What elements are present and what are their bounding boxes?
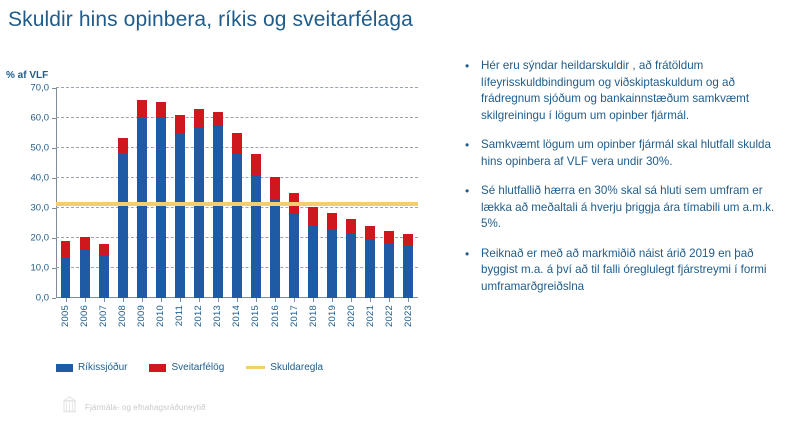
y-tick-label: 30,0 xyxy=(31,203,50,214)
x-tick-label: 2022 xyxy=(384,305,395,327)
bar-segment-sveitarfelog[interactable] xyxy=(118,138,128,153)
bar-segment-sveitarfelog[interactable] xyxy=(156,102,166,119)
x-tick-mark xyxy=(85,298,86,302)
x-axis-tick-group: 2005 xyxy=(56,298,75,360)
y-tick-label: 70,0 xyxy=(31,83,50,94)
bar-segment-sveitarfelog[interactable] xyxy=(365,226,375,240)
bar-group[interactable] xyxy=(132,88,151,298)
bar-segment-rikissjodur[interactable] xyxy=(61,258,71,299)
y-tick-label: 10,0 xyxy=(31,263,50,274)
footer: Fjármála- og efnahagsráðuneytið xyxy=(62,396,206,418)
bar-stack[interactable] xyxy=(346,88,356,298)
bar-segment-sveitarfelog[interactable] xyxy=(270,177,280,200)
x-tick-label: 2013 xyxy=(212,305,223,327)
skuldaregla-threshold-line xyxy=(56,202,418,206)
bullet-item: •Hér eru sýndar heildarskuldir , að frát… xyxy=(462,58,782,124)
plot-area: 70,060,050,040,030,020,010,00,0 xyxy=(56,88,418,298)
x-axis-tick-group: 2011 xyxy=(170,298,189,360)
x-tick-label: 2006 xyxy=(79,305,90,327)
bar-segment-rikissjodur[interactable] xyxy=(99,255,109,299)
x-axis-tick-group: 2007 xyxy=(94,298,113,360)
bar-segment-rikissjodur[interactable] xyxy=(384,243,394,299)
x-axis-labels: 2005200620072008200920102011201220132014… xyxy=(56,298,418,360)
bar-group[interactable] xyxy=(56,88,75,298)
x-tick-mark xyxy=(66,298,67,302)
x-tick-label: 2019 xyxy=(327,305,338,327)
x-tick-label: 2014 xyxy=(231,305,242,327)
x-tick-mark xyxy=(218,298,219,302)
y-tick-label: 50,0 xyxy=(31,143,50,154)
x-axis-tick-group: 2015 xyxy=(246,298,265,360)
x-tick-label: 2023 xyxy=(403,305,414,327)
x-tick-label: 2020 xyxy=(346,305,357,327)
x-axis-tick-group: 2022 xyxy=(380,298,399,360)
bar-group[interactable] xyxy=(361,88,380,298)
bar-stack[interactable] xyxy=(384,88,394,298)
x-tick-mark xyxy=(408,298,409,302)
x-tick-label: 2021 xyxy=(365,305,376,327)
x-axis-tick-group: 2020 xyxy=(342,298,361,360)
x-tick-mark xyxy=(123,298,124,302)
bullet-text: Hér eru sýndar heildarskuldir , að frátö… xyxy=(481,58,782,124)
x-tick-label: 2018 xyxy=(308,305,319,327)
bar-segment-sveitarfelog[interactable] xyxy=(213,112,223,126)
bar-stack[interactable] xyxy=(194,88,204,298)
bar-segment-rikissjodur[interactable] xyxy=(156,118,166,298)
legend-swatch xyxy=(56,364,73,372)
bar-segment-sveitarfelog[interactable] xyxy=(61,241,71,258)
bar-group[interactable] xyxy=(113,88,132,298)
bar-group[interactable] xyxy=(285,88,304,298)
legend-item[interactable]: Sveitarfélög xyxy=(149,362,224,373)
bar-stack[interactable] xyxy=(232,88,242,298)
y-tick-label: 40,0 xyxy=(31,173,50,184)
bar-segment-rikissjodur[interactable] xyxy=(213,126,223,299)
bar-segment-rikissjodur[interactable] xyxy=(80,250,90,298)
legend-item[interactable]: Ríkissjóður xyxy=(56,362,127,373)
x-axis-tick-group: 2014 xyxy=(227,298,246,360)
bullet-item: •Reiknað er með að markmiðið náist árið … xyxy=(462,246,782,296)
bar-stack[interactable] xyxy=(365,88,375,298)
x-axis-tick-group: 2013 xyxy=(208,298,227,360)
x-axis-tick-group: 2019 xyxy=(323,298,342,360)
bullet-item: •Sé hlutfallið hærra en 30% skal sá hlut… xyxy=(462,183,782,233)
bar-group[interactable] xyxy=(189,88,208,298)
bar-group[interactable] xyxy=(342,88,361,298)
x-axis-tick-group: 2017 xyxy=(285,298,304,360)
coat-of-arms-icon xyxy=(62,396,77,418)
x-tick-mark xyxy=(142,298,143,302)
bar-segment-rikissjodur[interactable] xyxy=(403,246,413,299)
x-tick-label: 2012 xyxy=(193,305,204,327)
x-tick-mark xyxy=(332,298,333,302)
bar-segment-rikissjodur[interactable] xyxy=(232,154,242,298)
x-tick-mark xyxy=(180,298,181,302)
bar-group[interactable] xyxy=(227,88,246,298)
x-tick-label: 2011 xyxy=(174,305,185,326)
x-axis-tick-group: 2006 xyxy=(75,298,94,360)
bar-segment-rikissjodur[interactable] xyxy=(270,199,280,298)
bar-segment-sveitarfelog[interactable] xyxy=(175,115,185,133)
bar-stack[interactable] xyxy=(80,88,90,298)
bar-group[interactable] xyxy=(266,88,285,298)
bar-group[interactable] xyxy=(75,88,94,298)
bar-stack[interactable] xyxy=(251,88,261,298)
legend-swatch xyxy=(246,366,265,369)
x-tick-mark xyxy=(370,298,371,302)
legend-item[interactable]: Skuldaregla xyxy=(246,362,323,373)
bars-layer xyxy=(56,88,418,298)
bar-segment-rikissjodur[interactable] xyxy=(251,175,261,298)
legend-label: Sveitarfélög xyxy=(171,362,224,373)
x-tick-mark xyxy=(104,298,105,302)
bar-group[interactable] xyxy=(304,88,323,298)
x-tick-label: 2015 xyxy=(250,305,261,327)
bar-group[interactable] xyxy=(246,88,265,298)
bar-stack[interactable] xyxy=(289,88,299,298)
bar-segment-sveitarfelog[interactable] xyxy=(251,154,261,175)
chart-container: % af VLF 70,060,050,040,030,020,010,00,0… xyxy=(0,62,452,392)
legend-swatch xyxy=(149,364,166,372)
x-axis-tick-group: 2023 xyxy=(399,298,418,360)
bar-stack[interactable] xyxy=(308,88,318,298)
legend-label: Ríkissjóður xyxy=(78,362,127,373)
bullet-marker-icon: • xyxy=(462,58,481,75)
x-axis-tick-group: 2008 xyxy=(113,298,132,360)
bar-segment-sveitarfelog[interactable] xyxy=(327,213,337,230)
bullet-marker-icon: • xyxy=(462,246,481,263)
bar-group[interactable] xyxy=(94,88,113,298)
bar-segment-rikissjodur[interactable] xyxy=(175,133,185,298)
bullet-text: Reiknað er með að markmiðið náist árið 2… xyxy=(481,246,782,296)
x-tick-mark xyxy=(351,298,352,302)
bar-group[interactable] xyxy=(170,88,189,298)
bar-group[interactable] xyxy=(399,88,418,298)
bullet-text: Samkvæmt lögum um opinber fjármál skal h… xyxy=(481,137,782,170)
bullet-panel: •Hér eru sýndar heildarskuldir , að frát… xyxy=(462,58,782,308)
x-tick-mark xyxy=(275,298,276,302)
bullet-marker-icon: • xyxy=(462,183,481,200)
bar-segment-rikissjodur[interactable] xyxy=(346,234,356,299)
bar-segment-rikissjodur[interactable] xyxy=(289,214,299,298)
x-tick-label: 2016 xyxy=(270,305,281,327)
bar-segment-rikissjodur[interactable] xyxy=(327,229,337,298)
x-tick-label: 2008 xyxy=(117,305,128,327)
bullet-marker-icon: • xyxy=(462,137,481,154)
bar-stack[interactable] xyxy=(403,88,413,298)
bullet-item: •Samkvæmt lögum um opinber fjármál skal … xyxy=(462,137,782,170)
bar-segment-rikissjodur[interactable] xyxy=(308,226,318,298)
bar-stack[interactable] xyxy=(61,88,71,298)
page-title: Skuldir hins opinbera, ríkis og sveitarf… xyxy=(8,8,413,32)
x-tick-label: 2010 xyxy=(155,305,166,327)
bar-segment-rikissjodur[interactable] xyxy=(118,153,128,299)
bar-segment-rikissjodur[interactable] xyxy=(137,117,147,299)
x-tick-label: 2009 xyxy=(136,305,147,327)
bar-stack[interactable] xyxy=(175,88,185,298)
bar-segment-sveitarfelog[interactable] xyxy=(308,207,318,227)
x-tick-mark xyxy=(237,298,238,302)
x-tick-mark xyxy=(256,298,257,302)
x-tick-mark xyxy=(313,298,314,302)
x-axis-tick-group: 2010 xyxy=(151,298,170,360)
bar-stack[interactable] xyxy=(156,88,166,298)
footer-text: Fjármála- og efnahagsráðuneytið xyxy=(85,403,206,412)
bar-segment-sveitarfelog[interactable] xyxy=(403,234,413,246)
bar-stack[interactable] xyxy=(99,88,109,298)
x-tick-mark xyxy=(389,298,390,302)
bar-stack[interactable] xyxy=(137,88,147,298)
x-axis-tick-group: 2021 xyxy=(361,298,380,360)
bullet-text: Sé hlutfallið hærra en 30% skal sá hluti… xyxy=(481,183,782,233)
chart-legend: RíkissjóðurSveitarfélögSkuldaregla xyxy=(56,362,436,373)
bar-segment-sveitarfelog[interactable] xyxy=(137,100,147,117)
x-axis-tick-group: 2012 xyxy=(189,298,208,360)
y-tick-label: 20,0 xyxy=(31,233,50,244)
bar-segment-rikissjodur[interactable] xyxy=(194,127,204,298)
bar-segment-sveitarfelog[interactable] xyxy=(384,231,394,243)
bar-group[interactable] xyxy=(208,88,227,298)
x-tick-mark xyxy=(199,298,200,302)
legend-label: Skuldaregla xyxy=(270,362,323,373)
x-axis-tick-group: 2016 xyxy=(266,298,285,360)
x-tick-mark xyxy=(294,298,295,302)
x-tick-label: 2007 xyxy=(98,305,109,327)
x-tick-mark xyxy=(161,298,162,302)
bar-stack[interactable] xyxy=(270,88,280,298)
y-axis-title: % af VLF xyxy=(6,70,48,81)
y-tick-label: 0,0 xyxy=(36,293,49,304)
bar-segment-sveitarfelog[interactable] xyxy=(99,244,109,255)
bar-group[interactable] xyxy=(380,88,399,298)
y-tick-label: 60,0 xyxy=(31,113,50,124)
bar-segment-sveitarfelog[interactable] xyxy=(80,237,90,251)
bar-segment-sveitarfelog[interactable] xyxy=(232,133,242,154)
bar-segment-sveitarfelog[interactable] xyxy=(346,219,356,234)
bar-stack[interactable] xyxy=(213,88,223,298)
bar-segment-sveitarfelog[interactable] xyxy=(194,109,204,127)
bar-group[interactable] xyxy=(151,88,170,298)
bar-segment-rikissjodur[interactable] xyxy=(365,240,375,299)
x-axis-tick-group: 2009 xyxy=(132,298,151,360)
bar-stack[interactable] xyxy=(118,88,128,298)
x-tick-label: 2005 xyxy=(60,305,71,327)
bar-group[interactable] xyxy=(323,88,342,298)
bar-stack[interactable] xyxy=(327,88,337,298)
x-axis-tick-group: 2018 xyxy=(304,298,323,360)
x-tick-label: 2017 xyxy=(289,305,300,327)
